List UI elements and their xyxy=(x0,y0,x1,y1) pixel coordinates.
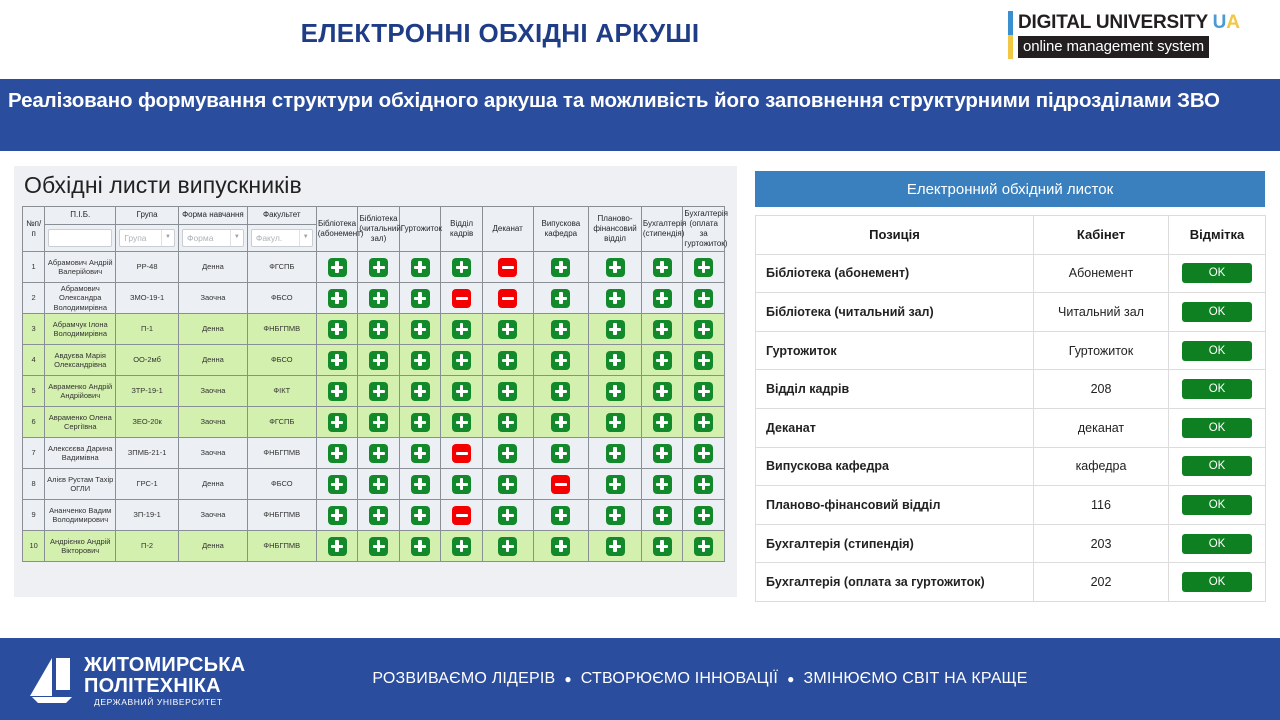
cell-status-library-subscription[interactable] xyxy=(316,469,358,500)
plus-icon[interactable] xyxy=(606,475,625,494)
cell-study-form: Заочна xyxy=(178,407,247,438)
plus-icon[interactable] xyxy=(452,475,471,494)
bypass-sheet-table: Позиція Кабінет Відмітка Бібліотека (або… xyxy=(755,215,1266,602)
plus-icon[interactable] xyxy=(606,320,625,339)
plus-icon[interactable] xyxy=(369,537,388,556)
plus-icon[interactable] xyxy=(452,258,471,277)
ok-button[interactable]: OK xyxy=(1182,263,1252,283)
col-header-hr-department: Відділ кадрів xyxy=(441,207,483,252)
plus-icon[interactable] xyxy=(551,320,570,339)
cell-faculty: ФБСО xyxy=(247,283,316,314)
plus-icon[interactable] xyxy=(694,444,713,463)
cell-status-library-reading-room[interactable] xyxy=(358,376,400,407)
cell-status-library-reading-room[interactable] xyxy=(358,438,400,469)
cell-status-library-subscription[interactable] xyxy=(316,531,358,562)
list-item: ДеканатдеканатOK xyxy=(756,408,1266,447)
cell-status-library-reading-room[interactable] xyxy=(358,407,400,438)
plus-icon[interactable] xyxy=(369,444,388,463)
cell-status-dormitory[interactable] xyxy=(399,469,441,500)
cell-mark: OK xyxy=(1169,293,1266,332)
minus-icon[interactable] xyxy=(452,289,471,308)
statement-text: Реалізовано формування структури обхідно… xyxy=(8,87,1266,115)
cell-status-dormitory[interactable] xyxy=(399,531,441,562)
plus-icon[interactable] xyxy=(369,506,388,525)
plus-icon[interactable] xyxy=(369,351,388,370)
cell-mark: OK xyxy=(1169,447,1266,486)
cell-row-number: 4 xyxy=(23,345,45,376)
plus-icon[interactable] xyxy=(369,320,388,339)
plus-icon[interactable] xyxy=(498,475,517,494)
plus-icon[interactable] xyxy=(606,413,625,432)
plus-icon[interactable] xyxy=(498,413,517,432)
cell-study-form: Заочна xyxy=(178,438,247,469)
cell-status-planning-finance[interactable] xyxy=(589,469,642,500)
cell-status-library-reading-room[interactable] xyxy=(358,469,400,500)
cell-status-graduating-department[interactable] xyxy=(533,283,589,314)
cell-status-library-reading-room[interactable] xyxy=(358,345,400,376)
cell-status-deanery[interactable] xyxy=(482,252,533,283)
cell-status-deanery[interactable] xyxy=(482,531,533,562)
cell-status-planning-finance[interactable] xyxy=(589,531,642,562)
plus-icon[interactable] xyxy=(328,413,347,432)
cell-status-deanery[interactable] xyxy=(482,438,533,469)
cell-status-deanery[interactable] xyxy=(482,500,533,531)
plus-icon[interactable] xyxy=(606,444,625,463)
cell-status-planning-finance[interactable] xyxy=(589,438,642,469)
list-item: ГуртожитокГуртожитокOK xyxy=(756,331,1266,370)
plus-icon[interactable] xyxy=(411,444,430,463)
university-subtitle: ДЕРЖАВНИЙ УНІВЕРСИТЕТ xyxy=(94,697,223,707)
plus-icon[interactable] xyxy=(694,413,713,432)
cell-status-planning-finance[interactable] xyxy=(589,345,642,376)
ok-button[interactable]: OK xyxy=(1182,302,1252,322)
cell-status-hr-department[interactable] xyxy=(441,438,483,469)
list-item: Бухгалтерія (стипендія)203OK xyxy=(756,524,1266,563)
cell-status-accounting-dormitory-fee[interactable] xyxy=(683,345,725,376)
cell-row-number: 6 xyxy=(23,407,45,438)
bypass-sheet-title: Електронний обхідний листок xyxy=(907,181,1113,198)
plus-icon[interactable] xyxy=(653,444,672,463)
plus-icon[interactable] xyxy=(411,289,430,308)
cell-status-planning-finance[interactable] xyxy=(589,407,642,438)
ok-button[interactable]: OK xyxy=(1182,534,1252,554)
list-item: Бібліотека (читальний зал)Читальний залO… xyxy=(756,293,1266,332)
cell-status-planning-finance[interactable] xyxy=(589,314,642,345)
cell-group: ЗПМБ-21-1 xyxy=(116,438,179,469)
minus-icon[interactable] xyxy=(551,475,570,494)
cell-status-accounting-scholarship[interactable] xyxy=(641,531,683,562)
plus-icon[interactable] xyxy=(369,475,388,494)
plus-icon[interactable] xyxy=(653,413,672,432)
plus-icon[interactable] xyxy=(551,289,570,308)
cell-status-graduating-department[interactable] xyxy=(533,531,589,562)
plus-icon[interactable] xyxy=(653,475,672,494)
col-header-library-subscription: Бібліотека (абонемент) xyxy=(316,207,358,252)
plus-icon[interactable] xyxy=(328,382,347,401)
list-item: Випускова кафедракафедраOK xyxy=(756,447,1266,486)
cell-study-form: Денна xyxy=(178,531,247,562)
cell-study-form: Денна xyxy=(178,469,247,500)
plus-icon[interactable] xyxy=(411,320,430,339)
cell-status-accounting-dormitory-fee[interactable] xyxy=(683,376,725,407)
plus-icon[interactable] xyxy=(328,320,347,339)
plus-icon[interactable] xyxy=(551,413,570,432)
cell-full-name: Авдуєва Марія Олександрівна xyxy=(45,345,116,376)
cell-faculty: ФБСО xyxy=(247,469,316,500)
plus-icon[interactable] xyxy=(452,382,471,401)
plus-icon[interactable] xyxy=(498,351,517,370)
cell-row-number: 1 xyxy=(23,252,45,283)
cell-status-accounting-scholarship[interactable] xyxy=(641,438,683,469)
plus-icon[interactable] xyxy=(498,444,517,463)
table-row[interactable]: 4Авдуєва Марія ОлександрівнаОО-2мбДеннаФ… xyxy=(23,345,725,376)
cell-group: ЗП-19-1 xyxy=(116,500,179,531)
cell-status-planning-finance[interactable] xyxy=(589,376,642,407)
form-filter-select[interactable]: Форма ▼ xyxy=(182,229,244,247)
plus-icon[interactable] xyxy=(694,320,713,339)
cell-status-dormitory[interactable] xyxy=(399,252,441,283)
cell-mark: OK xyxy=(1169,524,1266,563)
plus-icon[interactable] xyxy=(606,382,625,401)
filter-cell-faculty: Факул. ▼ xyxy=(247,224,316,251)
cell-status-accounting-dormitory-fee[interactable] xyxy=(683,252,725,283)
col-header-group: Група xyxy=(116,207,179,225)
plus-icon[interactable] xyxy=(653,258,672,277)
group-filter-placeholder: Група xyxy=(120,233,161,244)
ok-button[interactable]: OK xyxy=(1182,418,1252,438)
graduates-bypass-sheets-panel: Обхідні листи випускників №п/п П.І.Б. Гр… xyxy=(14,166,737,597)
cell-row-number: 10 xyxy=(23,531,45,562)
ok-button[interactable]: OK xyxy=(1182,495,1252,515)
cell-status-hr-department[interactable] xyxy=(441,376,483,407)
plus-icon[interactable] xyxy=(694,506,713,525)
plus-icon[interactable] xyxy=(452,537,471,556)
plus-icon[interactable] xyxy=(369,258,388,277)
cell-status-hr-department[interactable] xyxy=(441,345,483,376)
cell-faculty: ФГСПБ xyxy=(247,252,316,283)
zhytomyr-polytechnic-logo: ЖИТОМИРСЬКА ПОЛІТЕХНІКА ДЕРЖАВНИЙ УНІВЕР… xyxy=(26,650,236,708)
list-item: Бухгалтерія (оплата за гуртожиток)202OK xyxy=(756,563,1266,602)
cell-status-library-reading-room[interactable] xyxy=(358,252,400,283)
cell-status-graduating-department[interactable] xyxy=(533,438,589,469)
col-header-room: Кабінет xyxy=(1034,216,1169,255)
cell-status-library-subscription[interactable] xyxy=(316,252,358,283)
plus-icon[interactable] xyxy=(606,506,625,525)
cell-status-library-subscription[interactable] xyxy=(316,438,358,469)
col-header-planning-finance: Планово-фінансовий відділ xyxy=(589,207,642,252)
cell-status-accounting-dormitory-fee[interactable] xyxy=(683,469,725,500)
cell-status-accounting-dormitory-fee[interactable] xyxy=(683,500,725,531)
plus-icon[interactable] xyxy=(694,258,713,277)
col-header-position: Позиція xyxy=(756,216,1034,255)
minus-icon[interactable] xyxy=(452,444,471,463)
ok-button[interactable]: OK xyxy=(1182,456,1252,476)
plus-icon[interactable] xyxy=(653,382,672,401)
plus-icon[interactable] xyxy=(694,475,713,494)
cell-status-library-reading-room[interactable] xyxy=(358,500,400,531)
cell-status-hr-department[interactable] xyxy=(441,407,483,438)
table-row[interactable]: 7Алексєєва Дарина ВадимівнаЗПМБ-21-1Заоч… xyxy=(23,438,725,469)
cell-status-graduating-department[interactable] xyxy=(533,376,589,407)
minus-icon[interactable] xyxy=(498,258,517,277)
plus-icon[interactable] xyxy=(653,506,672,525)
cell-position: Відділ кадрів xyxy=(756,370,1034,409)
cell-status-library-reading-room[interactable] xyxy=(358,314,400,345)
cell-status-dormitory[interactable] xyxy=(399,407,441,438)
cell-status-accounting-dormitory-fee[interactable] xyxy=(683,314,725,345)
plus-icon[interactable] xyxy=(653,320,672,339)
cell-status-accounting-scholarship[interactable] xyxy=(641,407,683,438)
cell-status-dormitory[interactable] xyxy=(399,438,441,469)
plus-icon[interactable] xyxy=(606,258,625,277)
cell-group: ГРС-1 xyxy=(116,469,179,500)
cell-position: Бібліотека (читальний зал) xyxy=(756,293,1034,332)
faculty-filter-placeholder: Факул. xyxy=(252,233,299,244)
plus-icon[interactable] xyxy=(369,289,388,308)
col-header-pib: П.І.Б. xyxy=(45,207,116,225)
cell-status-accounting-scholarship[interactable] xyxy=(641,314,683,345)
cell-position: Деканат xyxy=(756,408,1034,447)
cell-status-accounting-dormitory-fee[interactable] xyxy=(683,283,725,314)
cell-status-dormitory[interactable] xyxy=(399,345,441,376)
cell-room: 116 xyxy=(1034,486,1169,525)
cell-status-accounting-scholarship[interactable] xyxy=(641,469,683,500)
cell-status-deanery[interactable] xyxy=(482,314,533,345)
cell-study-form: Заочна xyxy=(178,376,247,407)
cell-room: Читальний зал xyxy=(1034,293,1169,332)
graduates-table-head: №п/п П.І.Б. Група Форма навчання Факульт… xyxy=(23,207,725,252)
cell-group: РР-48 xyxy=(116,252,179,283)
plus-icon[interactable] xyxy=(328,475,347,494)
slogan-part-1: РОЗВИВАЄМО ЛІДЕРІВ xyxy=(372,670,555,688)
plus-icon[interactable] xyxy=(551,537,570,556)
cell-status-library-subscription[interactable] xyxy=(316,500,358,531)
cell-row-number: 9 xyxy=(23,500,45,531)
cell-mark: OK xyxy=(1169,331,1266,370)
cell-position: Випускова кафедра xyxy=(756,447,1034,486)
plus-icon[interactable] xyxy=(328,351,347,370)
cell-status-planning-finance[interactable] xyxy=(589,500,642,531)
cell-status-library-subscription[interactable] xyxy=(316,345,358,376)
cell-status-deanery[interactable] xyxy=(482,345,533,376)
plus-icon[interactable] xyxy=(369,413,388,432)
cell-status-hr-department[interactable] xyxy=(441,500,483,531)
cell-room: 203 xyxy=(1034,524,1169,563)
cell-full-name: Абрамович Олександра Володимирівна xyxy=(45,283,116,314)
logo-title-a: A xyxy=(1226,12,1240,33)
plus-icon[interactable] xyxy=(694,382,713,401)
plus-icon[interactable] xyxy=(411,506,430,525)
cell-status-deanery[interactable] xyxy=(482,407,533,438)
cell-status-dormitory[interactable] xyxy=(399,500,441,531)
plus-icon[interactable] xyxy=(328,258,347,277)
cell-full-name: Алексєєва Дарина Вадимівна xyxy=(45,438,116,469)
cell-status-planning-finance[interactable] xyxy=(589,283,642,314)
plus-icon[interactable] xyxy=(653,537,672,556)
plus-icon[interactable] xyxy=(452,351,471,370)
cell-room: 202 xyxy=(1034,563,1169,602)
ok-button[interactable]: OK xyxy=(1182,379,1252,399)
cell-status-graduating-department[interactable] xyxy=(533,345,589,376)
plus-icon[interactable] xyxy=(498,506,517,525)
plus-icon[interactable] xyxy=(411,351,430,370)
plus-icon[interactable] xyxy=(411,537,430,556)
cell-status-accounting-scholarship[interactable] xyxy=(641,345,683,376)
cell-status-accounting-scholarship[interactable] xyxy=(641,500,683,531)
list-item: Планово-фінансовий відділ116OK xyxy=(756,486,1266,525)
plus-icon[interactable] xyxy=(452,413,471,432)
plus-icon[interactable] xyxy=(606,351,625,370)
cell-position: Бухгалтерія (стипендія) xyxy=(756,524,1034,563)
bypass-sheet-table-body: Бібліотека (абонемент)АбонементOKБібліот… xyxy=(756,254,1266,601)
plus-icon[interactable] xyxy=(328,537,347,556)
table-row[interactable]: 6Авраменко Олена СергіївнаЗЕО-20кЗаочнаФ… xyxy=(23,407,725,438)
cell-faculty: ФНБГПМВ xyxy=(247,314,316,345)
col-header-dormitory: Гуртожиток xyxy=(399,207,441,252)
col-header-form: Форма навчання xyxy=(178,207,247,225)
plus-icon[interactable] xyxy=(551,444,570,463)
cell-room: Абонемент xyxy=(1034,254,1169,293)
table-row[interactable]: 9Ананченко Вадим ВолодимировичЗП-19-1Зао… xyxy=(23,500,725,531)
slogan-separator: ● xyxy=(787,672,794,686)
graduates-table: №п/п П.І.Б. Група Форма навчання Факульт… xyxy=(22,206,725,562)
plus-icon[interactable] xyxy=(411,413,430,432)
cell-status-graduating-department[interactable] xyxy=(533,252,589,283)
table-row[interactable]: 1Абрамович Андрій ВалерійовичРР-48ДеннаФ… xyxy=(23,252,725,283)
table-row[interactable]: 8Алієв Рустам Тахір ОГЛИГРС-1ДеннаФБСО xyxy=(23,469,725,500)
form-filter-placeholder: Форма xyxy=(183,233,230,244)
plus-icon[interactable] xyxy=(498,382,517,401)
cell-position: Планово-фінансовий відділ xyxy=(756,486,1034,525)
cell-group: ЗМО-19-1 xyxy=(116,283,179,314)
table-row[interactable]: 10Андрієнко Андрій ВікторовичП-2ДеннаФНБ… xyxy=(23,531,725,562)
plus-icon[interactable] xyxy=(369,382,388,401)
cell-status-library-subscription[interactable] xyxy=(316,376,358,407)
cell-status-accounting-dormitory-fee[interactable] xyxy=(683,407,725,438)
chevron-down-icon: ▼ xyxy=(299,230,312,246)
cell-faculty: ФБСО xyxy=(247,345,316,376)
cell-status-hr-department[interactable] xyxy=(441,283,483,314)
cell-status-dormitory[interactable] xyxy=(399,376,441,407)
cell-room: Гуртожиток xyxy=(1034,331,1169,370)
group-filter-select[interactable]: Група ▼ xyxy=(119,229,175,247)
plus-icon[interactable] xyxy=(551,382,570,401)
cell-room: деканат xyxy=(1034,408,1169,447)
cell-status-accounting-scholarship[interactable] xyxy=(641,376,683,407)
cell-status-hr-department[interactable] xyxy=(441,252,483,283)
table-row[interactable]: 3Абрамчук Ілона ВолодимирівнаП-1ДеннаФНБ… xyxy=(23,314,725,345)
cell-status-deanery[interactable] xyxy=(482,469,533,500)
ok-button[interactable]: OK xyxy=(1182,341,1252,361)
bypass-sheet-header-row: Позиція Кабінет Відмітка xyxy=(756,216,1266,255)
cell-status-graduating-department[interactable] xyxy=(533,500,589,531)
cell-position: Бібліотека (абонемент) xyxy=(756,254,1034,293)
cell-status-dormitory[interactable] xyxy=(399,283,441,314)
cell-mark: OK xyxy=(1169,563,1266,602)
cell-status-graduating-department[interactable] xyxy=(533,407,589,438)
plus-icon[interactable] xyxy=(498,320,517,339)
cell-mark: OK xyxy=(1169,408,1266,447)
slide-footer: РОЗВИВАЄМО ЛІДЕРІВ ● СТВОРЮЄМО ІННОВАЦІЇ… xyxy=(0,638,1280,720)
logo-accent-bar xyxy=(1008,11,1013,59)
plus-icon[interactable] xyxy=(328,289,347,308)
cell-status-hr-department[interactable] xyxy=(441,531,483,562)
plus-icon[interactable] xyxy=(411,258,430,277)
cell-group: ЗЕО-20к xyxy=(116,407,179,438)
plus-icon[interactable] xyxy=(606,289,625,308)
cell-status-library-subscription[interactable] xyxy=(316,407,358,438)
plus-icon[interactable] xyxy=(328,444,347,463)
cell-status-graduating-department[interactable] xyxy=(533,469,589,500)
ok-button[interactable]: OK xyxy=(1182,572,1252,592)
cell-status-library-reading-room[interactable] xyxy=(358,531,400,562)
cell-row-number: 3 xyxy=(23,314,45,345)
cell-status-accounting-dormitory-fee[interactable] xyxy=(683,531,725,562)
minus-icon[interactable] xyxy=(498,289,517,308)
minus-icon[interactable] xyxy=(452,506,471,525)
faculty-filter-select[interactable]: Факул. ▼ xyxy=(251,229,313,247)
cell-status-planning-finance[interactable] xyxy=(589,252,642,283)
plus-icon[interactable] xyxy=(551,351,570,370)
cell-group: П-2 xyxy=(116,531,179,562)
slogan-part-3: ЗМІНЮЄМО СВІТ НА КРАЩЕ xyxy=(804,670,1028,688)
cell-status-hr-department[interactable] xyxy=(441,314,483,345)
cell-status-accounting-scholarship[interactable] xyxy=(641,283,683,314)
plus-icon[interactable] xyxy=(411,475,430,494)
university-name-line2: ПОЛІТЕХНІКА xyxy=(84,675,221,697)
cell-mark: OK xyxy=(1169,254,1266,293)
table-row[interactable]: 5Авраменко Андрій АндрійовичЗТР-19-1Заоч… xyxy=(23,376,725,407)
cell-position: Бухгалтерія (оплата за гуртожиток) xyxy=(756,563,1034,602)
cell-status-dormitory[interactable] xyxy=(399,314,441,345)
cell-status-library-subscription[interactable] xyxy=(316,283,358,314)
pib-filter-input[interactable] xyxy=(48,229,112,247)
plus-icon[interactable] xyxy=(653,289,672,308)
plus-icon[interactable] xyxy=(694,289,713,308)
plus-icon[interactable] xyxy=(411,382,430,401)
cell-faculty: ФГСПБ xyxy=(247,407,316,438)
cell-status-hr-department[interactable] xyxy=(441,469,483,500)
plus-icon[interactable] xyxy=(551,258,570,277)
plus-icon[interactable] xyxy=(498,537,517,556)
cell-full-name: Авраменко Олена Сергіївна xyxy=(45,407,116,438)
plus-icon[interactable] xyxy=(551,506,570,525)
cell-study-form: Заочна xyxy=(178,283,247,314)
plus-icon[interactable] xyxy=(653,351,672,370)
cell-status-accounting-dormitory-fee[interactable] xyxy=(683,438,725,469)
cell-status-deanery[interactable] xyxy=(482,376,533,407)
cell-group: ОО-2мб xyxy=(116,345,179,376)
cell-status-graduating-department[interactable] xyxy=(533,314,589,345)
cell-status-library-subscription[interactable] xyxy=(316,314,358,345)
col-header-accounting-scholarship: Бухгалтерія (стипендія) xyxy=(641,207,683,252)
filter-cell-pib xyxy=(45,224,116,251)
cell-status-accounting-scholarship[interactable] xyxy=(641,252,683,283)
plus-icon[interactable] xyxy=(694,351,713,370)
cell-full-name: Авраменко Андрій Андрійович xyxy=(45,376,116,407)
plus-icon[interactable] xyxy=(606,537,625,556)
cell-status-library-reading-room[interactable] xyxy=(358,283,400,314)
table-row[interactable]: 2Абрамович Олександра ВолодимирівнаЗМО-1… xyxy=(23,283,725,314)
plus-icon[interactable] xyxy=(452,320,471,339)
cell-status-deanery[interactable] xyxy=(482,283,533,314)
graduates-table-title: Обхідні листи випускників xyxy=(14,166,737,206)
cell-position: Гуртожиток xyxy=(756,331,1034,370)
col-header-deanery: Деканат xyxy=(482,207,533,252)
plus-icon[interactable] xyxy=(328,506,347,525)
cell-mark: OK xyxy=(1169,370,1266,409)
plus-icon[interactable] xyxy=(694,537,713,556)
